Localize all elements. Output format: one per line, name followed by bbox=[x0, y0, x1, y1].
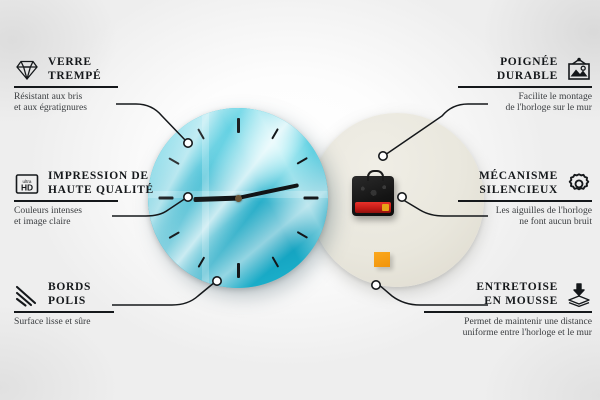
diamond-icon bbox=[14, 57, 40, 83]
feature-entretoise-en-mousse[interactable]: ENTRETOISE EN MOUSSE Permet de maintenir… bbox=[424, 281, 592, 339]
divider bbox=[14, 86, 118, 88]
feature-impression-haute-qualite[interactable]: ultra HD IMPRESSION DE HAUTE QUALITÉ Cou… bbox=[14, 170, 114, 228]
infographic-canvas: VERRE TREMPÉ Résistant aux bris et aux é… bbox=[0, 0, 600, 400]
svg-text:HD: HD bbox=[21, 182, 33, 192]
feature-sub-line2: et image claire bbox=[14, 216, 114, 228]
feature-sub-line1: Facilite le montage bbox=[458, 91, 592, 103]
feature-title-line2: TREMPÉ bbox=[48, 70, 101, 84]
feature-title-line2: HAUTE QUALITÉ bbox=[48, 184, 154, 198]
ultra-hd-icon: ultra HD bbox=[14, 171, 40, 197]
feature-sub-line1: Les aiguilles de l'horloge bbox=[458, 205, 592, 217]
feature-title-line2: EN MOUSSE bbox=[476, 295, 558, 309]
foam-spacer bbox=[374, 252, 390, 267]
feature-title-line2: SILENCIEUX bbox=[479, 184, 558, 198]
divider bbox=[424, 311, 592, 313]
feature-sub-line2: de l'horloge sur le mur bbox=[458, 102, 592, 114]
hanger-loop-icon bbox=[367, 170, 384, 181]
clock-mechanism bbox=[352, 176, 394, 216]
divider bbox=[14, 200, 118, 202]
feature-title-line1: POIGNÉE bbox=[497, 56, 558, 70]
diagonal-lines-icon bbox=[14, 282, 40, 308]
feature-title-line2: POLIS bbox=[48, 295, 91, 309]
mechanism-detail bbox=[357, 183, 389, 197]
feature-title-line2: DURABLE bbox=[497, 70, 558, 84]
feature-title-line1: MÉCANISME bbox=[479, 170, 558, 184]
gear-icon bbox=[566, 171, 592, 197]
feature-sub-line2: uniforme entre l'horloge et le mur bbox=[424, 327, 592, 339]
divider bbox=[458, 86, 592, 88]
feature-sub-line1: Surface lisse et sûre bbox=[14, 316, 114, 328]
arrow-into-stack-icon bbox=[566, 282, 592, 308]
feature-sub-line2: ne font aucun bruit bbox=[458, 216, 592, 228]
feature-sub-line1: Permet de maintenir une distance bbox=[424, 316, 592, 328]
feature-sub-line1: Couleurs intenses bbox=[14, 205, 114, 217]
feature-title-line1: IMPRESSION DE bbox=[48, 170, 154, 184]
feature-mecanisme-silencieux[interactable]: MÉCANISME SILENCIEUX Les aiguilles de l'… bbox=[458, 170, 592, 228]
feature-sub-line2: et aux égratignures bbox=[14, 102, 118, 114]
glass-gloss bbox=[148, 108, 328, 288]
clock-face bbox=[148, 108, 328, 288]
feature-title-line1: VERRE bbox=[48, 56, 101, 70]
feature-title-line1: BORDS bbox=[48, 281, 91, 295]
feature-title-line1: ENTRETOISE bbox=[476, 281, 558, 295]
battery bbox=[355, 202, 391, 213]
feature-verre-trempe[interactable]: VERRE TREMPÉ Résistant aux bris et aux é… bbox=[14, 56, 118, 114]
divider bbox=[14, 311, 114, 313]
picture-hanger-icon bbox=[566, 57, 592, 83]
feature-sub-line1: Résistant aux bris bbox=[14, 91, 118, 103]
divider bbox=[458, 200, 592, 202]
feature-bords-polis[interactable]: BORDS POLIS Surface lisse et sûre bbox=[14, 281, 114, 327]
feature-poignee-durable[interactable]: POIGNÉE DURABLE Facilite le montage de l… bbox=[458, 56, 592, 114]
